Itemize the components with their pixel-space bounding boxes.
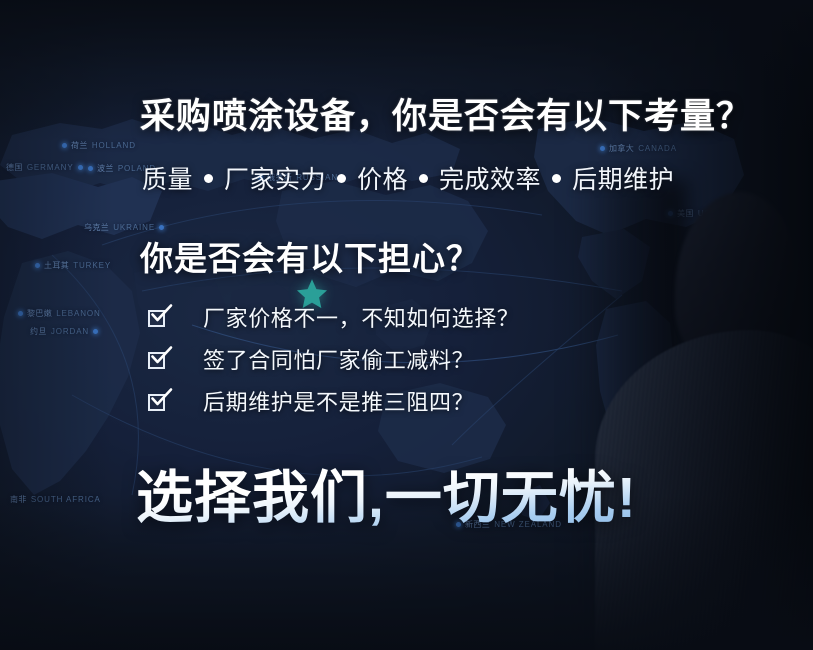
banner-content: 采购喷涂设备，你是否会有以下考量？ 质量 厂家实力 价格 完成效率 后期维护 你… [0, 0, 813, 650]
list-item: 后期维护是不是推三阻四？ [148, 387, 519, 415]
worry-text: 后期维护是不是推三阻四？ [203, 385, 474, 417]
main-headline: 采购喷涂设备，你是否会有以下考量？ [140, 88, 752, 139]
bullet-separator-icon [552, 174, 561, 183]
bullet-separator-icon [204, 174, 213, 183]
bullet-separator-icon [419, 174, 428, 183]
feature-item-maintenance: 后期维护 [572, 160, 674, 196]
checkbox-checked-icon [148, 308, 167, 327]
feature-item-strength: 厂家实力 [224, 160, 326, 196]
promo-banner: 荷兰 HOLLAND GERMANY 德国 波兰 POLAND 俄罗斯 RUSS… [0, 0, 813, 650]
worry-text: 签了合同怕厂家偷工减料？ [203, 343, 474, 375]
slogan-text: 选择我们,一切无忧! [136, 452, 637, 534]
checkbox-checked-icon [148, 350, 167, 369]
secondary-headline: 你是否会有以下担心？ [140, 232, 480, 280]
worry-list: 厂家价格不一，不知如何选择？ 签了合同怕厂家偷工减料？ [148, 303, 519, 415]
feature-item-quality: 质量 [142, 160, 193, 196]
feature-item-price: 价格 [357, 160, 408, 196]
worry-text: 厂家价格不一，不知如何选择？ [203, 301, 519, 333]
list-item: 签了合同怕厂家偷工减料？ [148, 345, 519, 373]
feature-item-efficiency: 完成效率 [439, 160, 541, 196]
feature-list: 质量 厂家实力 价格 完成效率 后期维护 [142, 160, 674, 196]
bullet-separator-icon [337, 174, 346, 183]
checkbox-checked-icon [148, 392, 167, 411]
list-item: 厂家价格不一，不知如何选择？ [148, 303, 519, 331]
